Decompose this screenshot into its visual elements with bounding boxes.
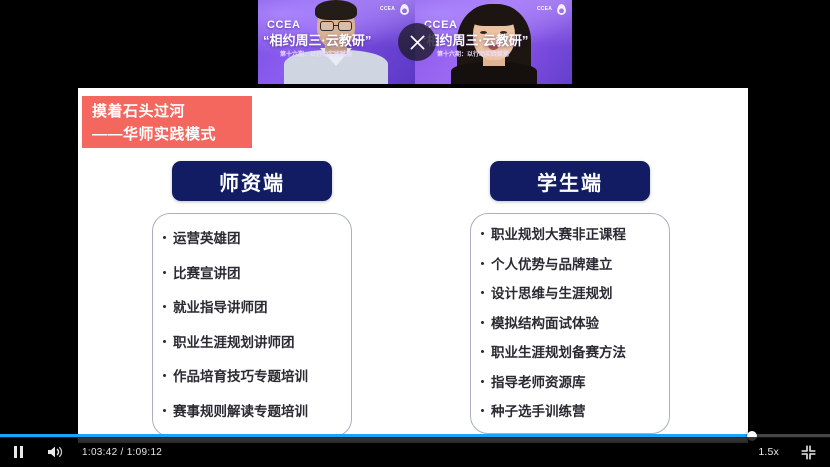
playback-speed-button[interactable]: 1.5x: [758, 446, 779, 458]
list-item: 赛事规则解读专题培训: [163, 403, 343, 421]
video-player-root: CCEA CCEA “相约周三·云教研” 第十六期：以行动实践赋能 CCEA: [0, 0, 830, 467]
player-control-bar: 1:03:42 / 1:09:12 1.5x: [0, 437, 830, 467]
time-display: 1:03:42 / 1:09:12: [82, 447, 162, 458]
list-item: 种子选手训练营: [481, 403, 661, 421]
list-item: 作品培育技巧专题培训: [163, 368, 343, 386]
bullet-dot-icon: [481, 232, 484, 235]
bullet-dot-icon: [481, 291, 484, 294]
list-item-label: 种子选手训练营: [491, 403, 586, 421]
droplet-logo-icon: [400, 4, 409, 15]
column-header-teacher: 师资端: [172, 161, 332, 201]
list-item-label: 职业生涯规划备赛方法: [491, 344, 626, 362]
tile-subtitle-text: 第十六期：以行动实践赋能: [280, 49, 415, 58]
list-item: 设计思维与生涯规划: [481, 285, 661, 303]
bullet-dot-icon: [163, 409, 166, 412]
bullet-dot-icon: [163, 340, 166, 343]
bullet-dot-icon: [481, 350, 484, 353]
bullet-dot-icon: [163, 236, 166, 239]
list-item: 职业规划大赛非正课程: [481, 226, 661, 244]
tile-title-text: “相约周三·云教研”: [420, 30, 570, 49]
list-item: 个人优势与品牌建立: [481, 256, 661, 274]
list-item-label: 设计思维与生涯规划: [491, 285, 613, 303]
pause-icon[interactable]: [14, 446, 23, 458]
list-item: 职业生涯规划讲师团: [163, 334, 343, 352]
list-item-label: 指导老师资源库: [491, 374, 586, 392]
slide-title-banner: 摸着石头过河 ——华师实践模式: [82, 96, 252, 148]
tile-subtitle-text: 第十六期：以行动实践赋能: [437, 49, 572, 58]
bullet-dot-icon: [163, 271, 166, 274]
list-item: 指导老师资源库: [481, 374, 661, 392]
list-item: 运营英雄团: [163, 230, 343, 248]
bullet-dot-icon: [481, 409, 484, 412]
column-list-student: 职业规划大赛非正课程 个人优势与品牌建立 设计思维与生涯规划 模拟结构面试体验 …: [470, 213, 670, 434]
bullet-dot-icon: [481, 380, 484, 383]
bullet-dot-icon: [163, 305, 166, 308]
slide-column-student: 学生端 职业规划大赛非正课程 个人优势与品牌建立 设计思维与生涯规划 模拟结构面…: [470, 161, 670, 434]
list-item: 就业指导讲师团: [163, 299, 343, 317]
tile-title-text: “相约周三·云教研”: [263, 30, 413, 49]
slide-column-teacher: 师资端 运营英雄团 比赛宣讲团 就业指导讲师团 职业生涯规划讲师团: [152, 161, 352, 437]
list-item-label: 个人优势与品牌建立: [491, 256, 613, 274]
list-item-label: 比赛宣讲团: [173, 265, 241, 283]
video-tile-speaker-2[interactable]: CCEA CCEA “相约周三·云教研” 第十六期：以行动实践赋能: [415, 0, 572, 84]
exit-fullscreen-icon[interactable]: [801, 445, 816, 460]
bullet-dot-icon: [481, 321, 484, 324]
list-item-label: 模拟结构面试体验: [491, 315, 599, 333]
video-tile-speaker-1[interactable]: CCEA CCEA “相约周三·云教研” 第十六期：以行动实践赋能: [258, 0, 415, 84]
list-item-label: 运营英雄团: [173, 230, 241, 248]
volume-icon[interactable]: [47, 445, 64, 459]
list-item: 比赛宣讲团: [163, 265, 343, 283]
presentation-slide: 摸着石头过河 ——华师实践模式 师资端 运营英雄团 比赛宣讲团 就业指导讲师团: [78, 88, 748, 443]
list-item-label: 赛事规则解读专题培训: [173, 403, 308, 421]
slide-title-line2: ——华师实践模式: [92, 124, 252, 147]
bullet-dot-icon: [481, 262, 484, 265]
list-item-label: 就业指导讲师团: [173, 299, 268, 317]
list-item-label: 职业生涯规划讲师团: [173, 334, 295, 352]
slide-title-line1: 摸着石头过河: [92, 103, 185, 120]
bullet-dot-icon: [163, 374, 166, 377]
list-item-label: 作品培育技巧专题培训: [173, 368, 308, 386]
list-item-label: 职业规划大赛非正课程: [491, 226, 626, 244]
column-list-teacher: 运营英雄团 比赛宣讲团 就业指导讲师团 职业生涯规划讲师团 作品培育技巧专题培训: [152, 213, 352, 437]
list-item: 职业生涯规划备赛方法: [481, 344, 661, 362]
list-item: 模拟结构面试体验: [481, 315, 661, 333]
column-header-student: 学生端: [490, 161, 650, 201]
close-icon[interactable]: [398, 23, 436, 61]
